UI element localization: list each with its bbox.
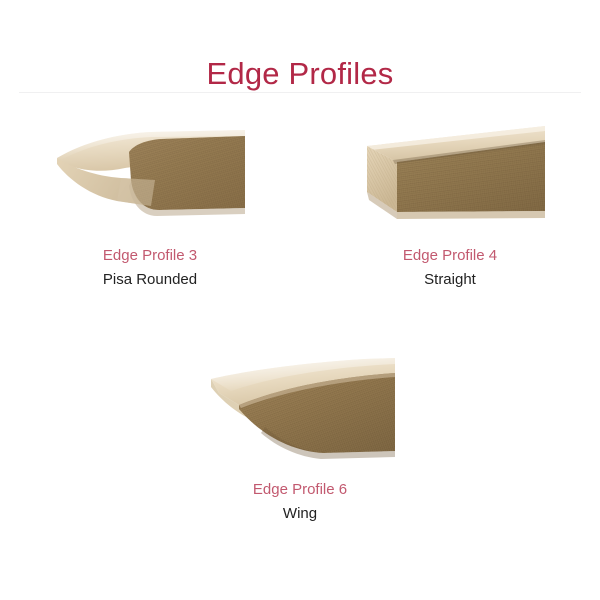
profiles-row: Edge Profile 6 Wing <box>0 353 600 525</box>
profile-caption: Edge Profile 6 Wing <box>150 479 450 525</box>
profile-card-wing[interactable]: Edge Profile 6 Wing <box>150 353 450 525</box>
edge-profiles-page: Edge Profiles <box>0 0 600 600</box>
straight-icon <box>355 106 545 231</box>
profile-caption: Edge Profile 3 Pisa Rounded <box>0 245 300 291</box>
profile-card-straight[interactable]: Edge Profile 4 Straight <box>300 106 600 291</box>
header-divider <box>19 92 581 93</box>
profile-code: Edge Profile 6 <box>150 479 450 501</box>
row-spacer <box>0 291 600 353</box>
profile-name: Straight <box>300 269 600 291</box>
page-title: Edge Profiles <box>0 53 600 95</box>
straight-image <box>355 106 545 231</box>
profile-name: Wing <box>150 503 450 525</box>
profile-code: Edge Profile 3 <box>0 245 300 267</box>
pisa-rounded-image <box>55 106 245 231</box>
profile-name: Pisa Rounded <box>0 269 300 291</box>
profiles-grid: Edge Profile 3 Pisa Rounded <box>0 106 600 525</box>
profile-caption: Edge Profile 4 Straight <box>300 245 600 291</box>
profile-code: Edge Profile 4 <box>300 245 600 267</box>
wing-image <box>205 353 395 465</box>
profiles-row: Edge Profile 3 Pisa Rounded <box>0 106 600 291</box>
wing-icon <box>205 353 395 465</box>
pisa-rounded-icon <box>55 106 245 231</box>
profile-card-pisa-rounded[interactable]: Edge Profile 3 Pisa Rounded <box>0 106 300 291</box>
